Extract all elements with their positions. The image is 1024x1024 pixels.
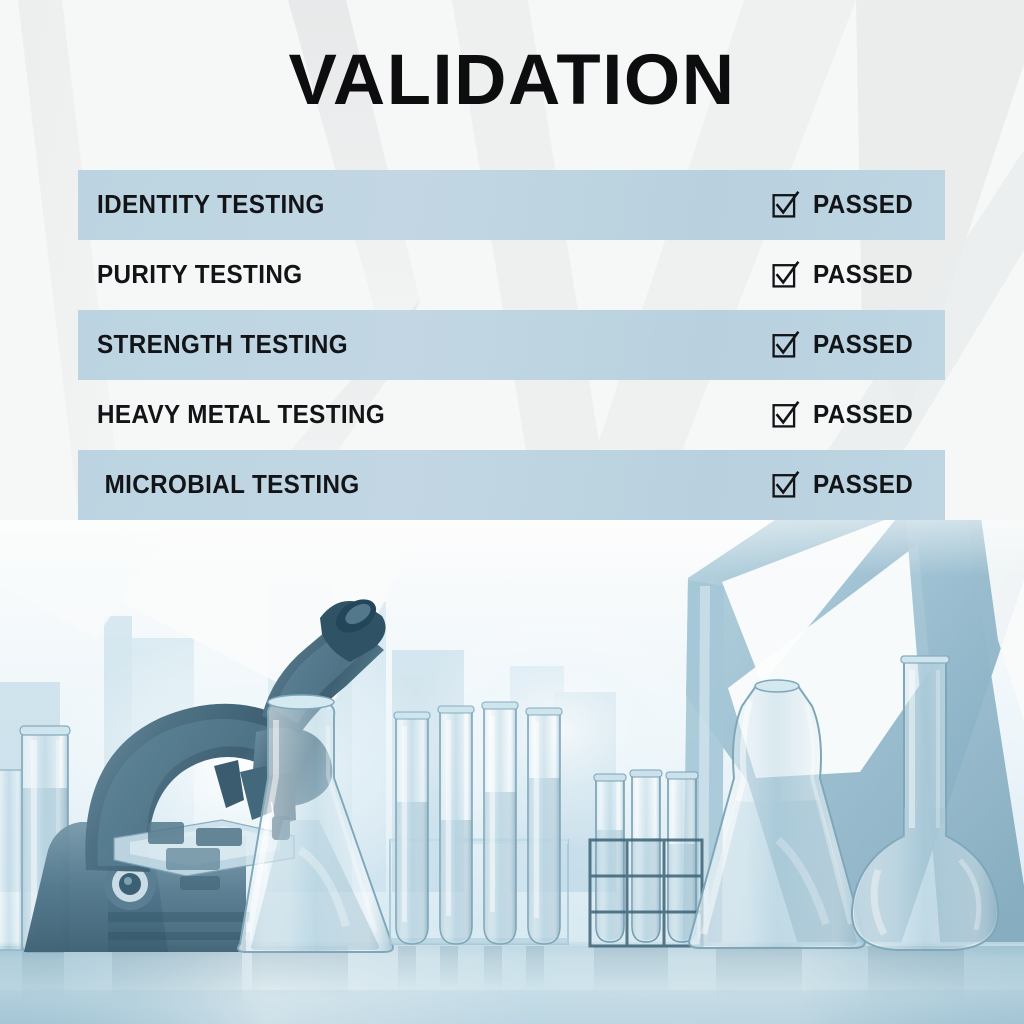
row-label: PURITY TESTING	[78, 261, 302, 290]
checklist-row-strength-testing[interactable]: STRENGTH TESTING PASSED	[78, 310, 945, 380]
poster-canvas: VALIDATION IDENTITY TESTING PASSED PURIT…	[0, 0, 1024, 1024]
row-status-group: PASSED	[772, 240, 945, 310]
row-status-group: PASSED	[772, 170, 945, 240]
checkbox-checked-icon[interactable]	[772, 402, 798, 428]
checkbox-checked-icon[interactable]	[772, 192, 798, 218]
checklist-row-purity-testing[interactable]: PURITY TESTING PASSED	[78, 240, 945, 310]
test-tube-rack-short	[590, 770, 702, 946]
row-status-group: PASSED	[772, 310, 945, 380]
row-label: MICROBIAL TESTING	[78, 471, 360, 500]
laboratory-bench-photo	[0, 520, 1024, 1024]
status-label: PASSED	[813, 261, 913, 290]
row-label: IDENTITY TESTING	[78, 191, 325, 220]
status-label: PASSED	[813, 401, 913, 430]
row-status-group: PASSED	[772, 450, 945, 520]
checklist-row-identity-testing[interactable]: IDENTITY TESTING PASSED	[78, 170, 945, 240]
checkbox-checked-icon[interactable]	[772, 262, 798, 288]
status-label: PASSED	[813, 471, 913, 500]
status-label: PASSED	[813, 331, 913, 360]
checkbox-checked-icon[interactable]	[772, 472, 798, 498]
beaker-small	[0, 770, 22, 950]
row-label: STRENGTH TESTING	[78, 331, 348, 360]
checkbox-checked-icon[interactable]	[772, 332, 798, 358]
checklist-row-heavy-metal-testing[interactable]: HEAVY METAL TESTING PASSED	[78, 380, 945, 450]
page-title: VALIDATION	[0, 42, 1024, 120]
validation-checklist: IDENTITY TESTING PASSED PURITY TESTING	[78, 170, 945, 520]
checklist-row-microbial-testing[interactable]: MICROBIAL TESTING PASSED	[78, 450, 945, 520]
row-label: HEAVY METAL TESTING	[78, 401, 385, 430]
lab-scene-svg	[0, 520, 1024, 1024]
row-status-group: PASSED	[772, 380, 945, 450]
status-label: PASSED	[813, 191, 913, 220]
